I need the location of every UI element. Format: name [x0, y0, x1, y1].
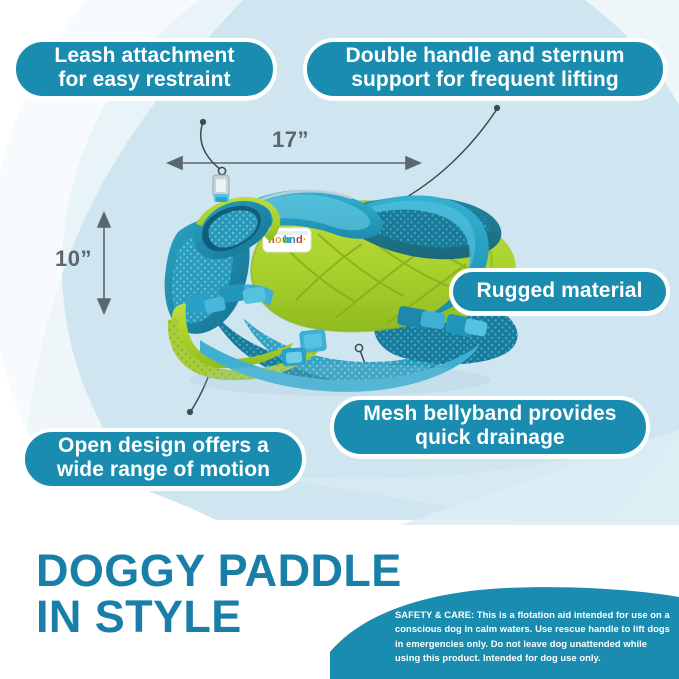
callout-leash-attachment[interactable]: Leash attachment for easy restraint: [12, 38, 277, 100]
callout-rugged-line-1: Rugged material: [476, 279, 642, 303]
dimension-width-label: 17”: [272, 127, 309, 153]
callout-handle-line-1: Double handle and sternum: [345, 44, 624, 68]
dimension-height-label: 10”: [55, 246, 92, 272]
infographic-canvas: h h o u n d ·: [0, 0, 679, 679]
callout-rugged-material[interactable]: Rugged material: [449, 268, 670, 315]
callout-open-design[interactable]: Open design offers a wide range of motio…: [21, 428, 306, 490]
callout-mesh-line-2: quick drainage: [363, 426, 616, 450]
callout-mesh-line-1: Mesh bellyband provides: [363, 402, 616, 426]
callout-mesh-bellyband[interactable]: Mesh bellyband provides quick drainage: [330, 396, 650, 458]
callout-open-line-2: wide range of motion: [57, 458, 270, 482]
callout-double-handle-sternum[interactable]: Double handle and sternum support for fr…: [303, 38, 667, 100]
callout-leash-line-2: for easy restraint: [54, 68, 234, 92]
safety-heading: SAFETY & CARE:: [395, 609, 474, 620]
callout-open-line-1: Open design offers a: [57, 434, 270, 458]
safety-and-care-panel: SAFETY & CARE: This is a flotation aid i…: [330, 586, 679, 679]
callout-leash-line-1: Leash attachment: [54, 44, 234, 68]
safety-and-care-text: SAFETY & CARE: This is a flotation aid i…: [395, 608, 671, 665]
callout-handle-line-2: support for frequent lifting: [345, 68, 624, 92]
